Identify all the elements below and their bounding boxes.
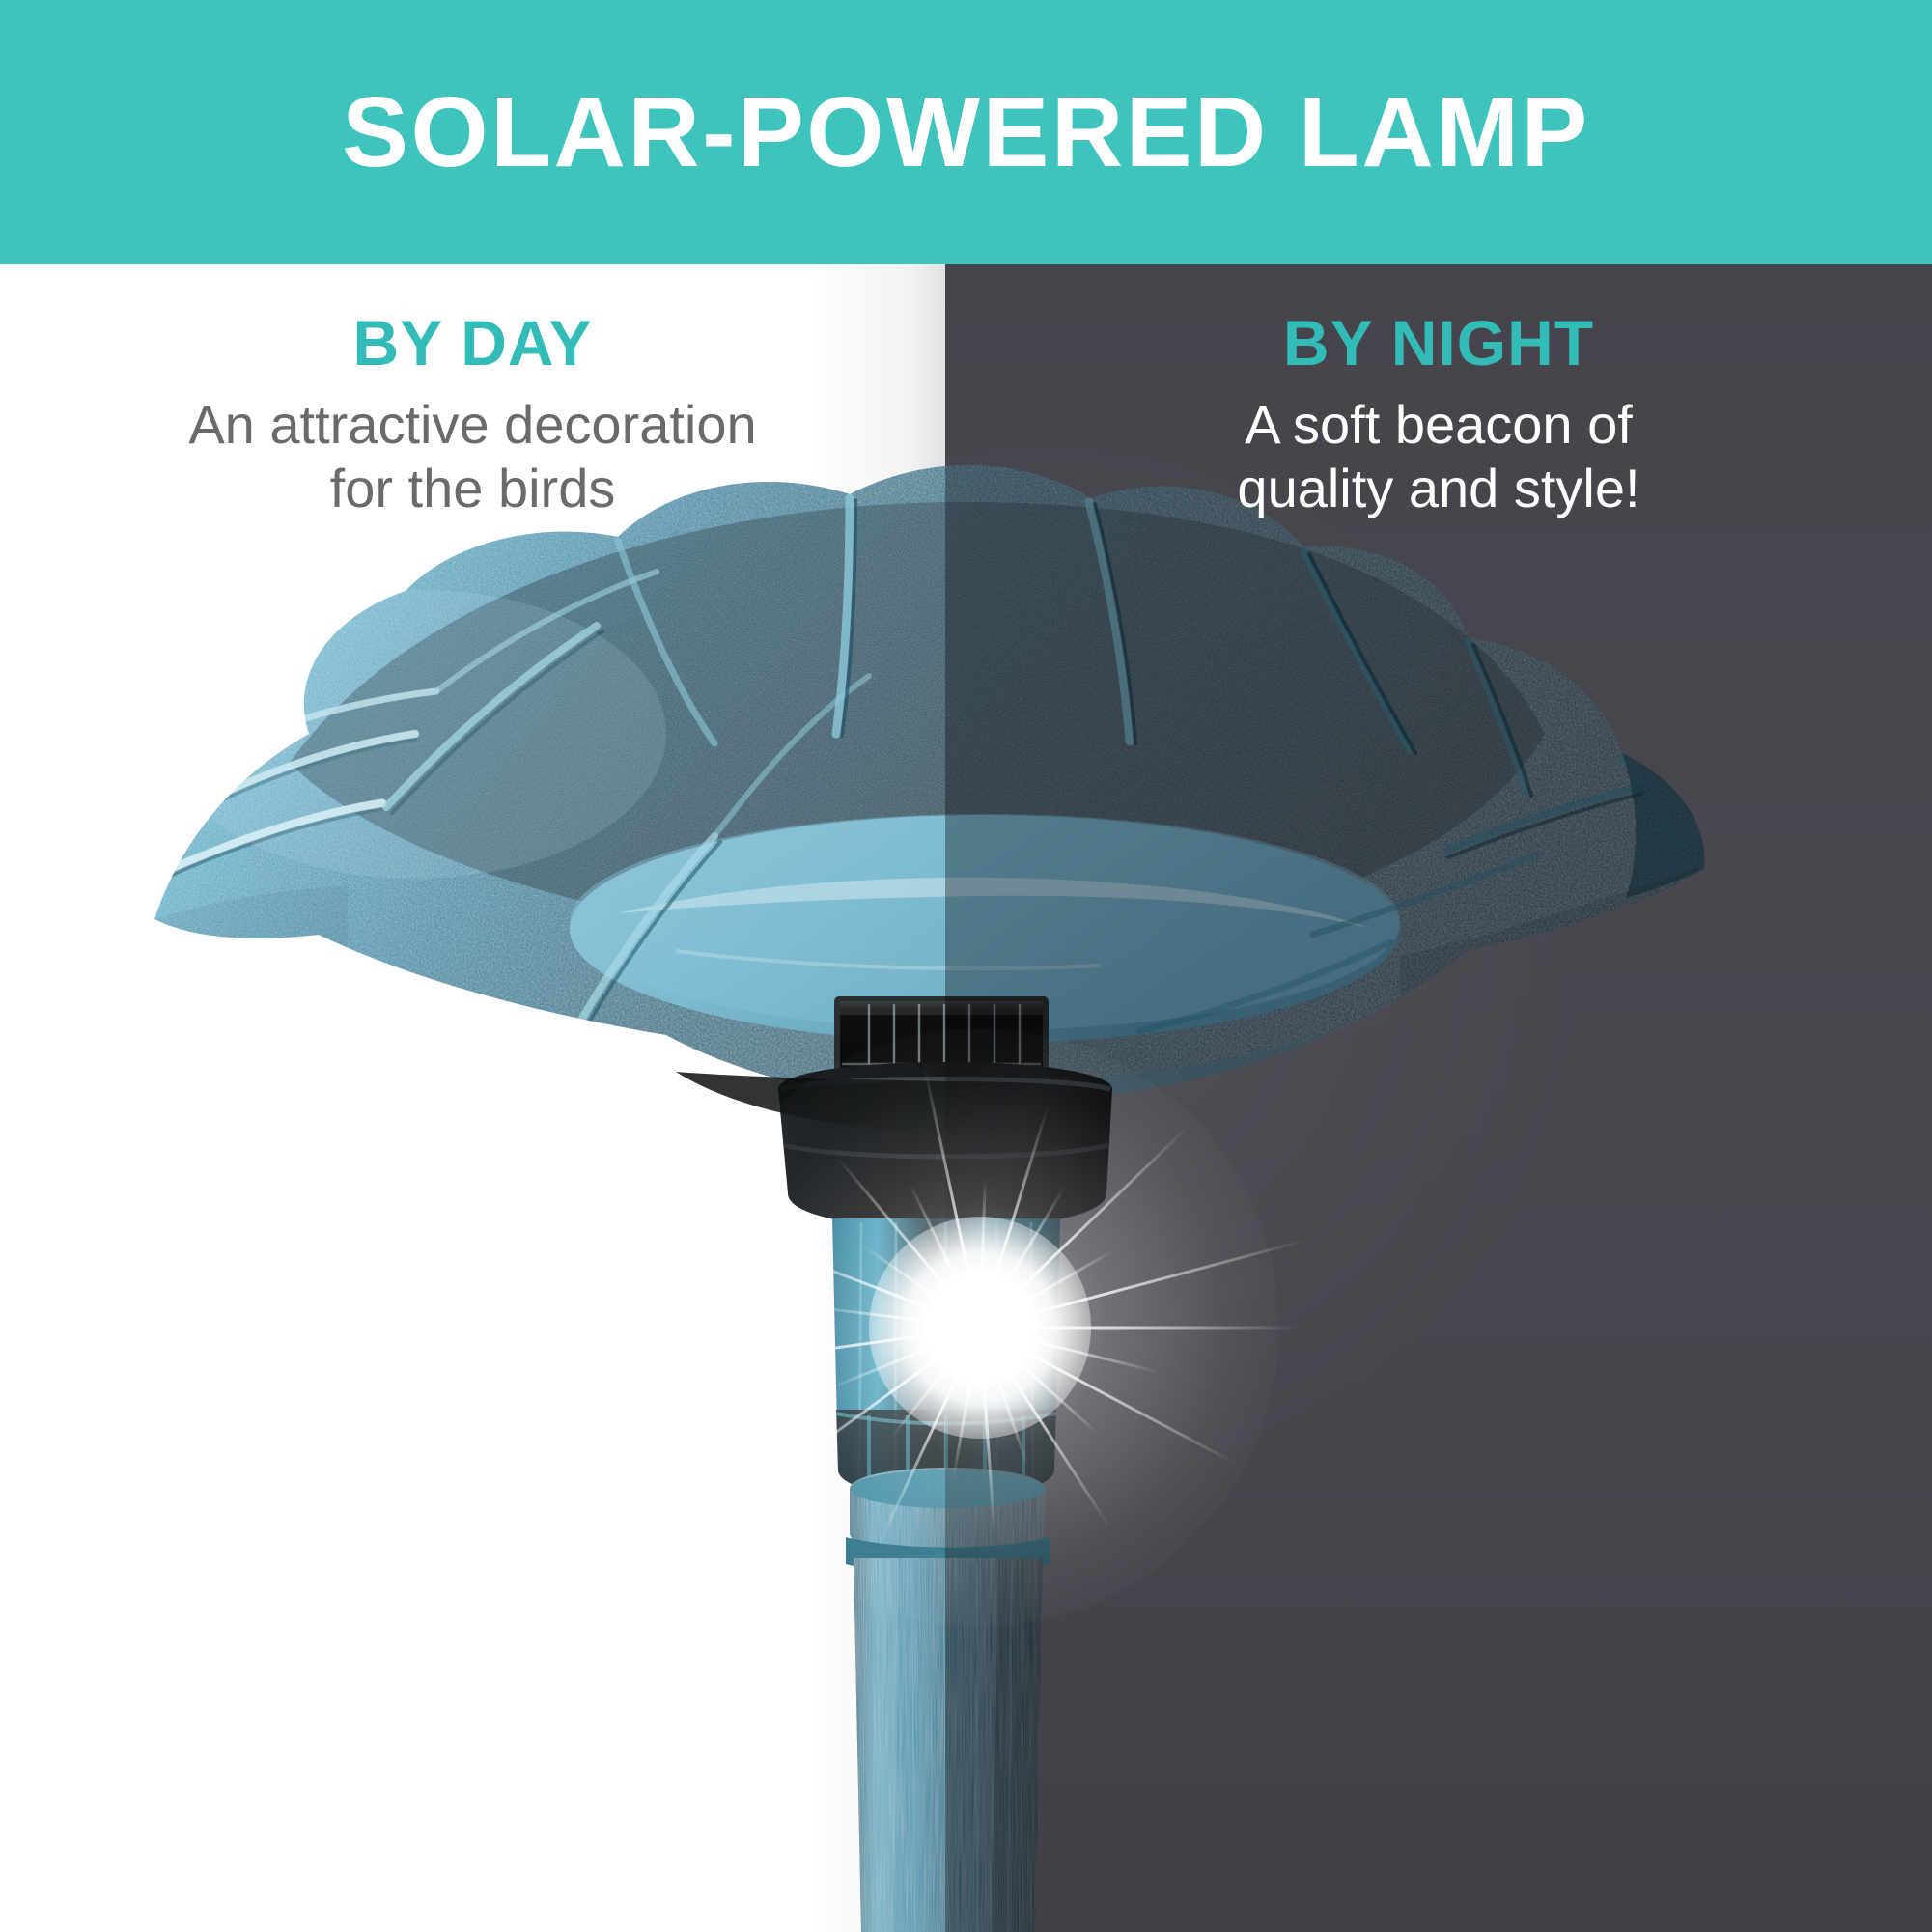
day-body-line1: An attractive decoration (0, 393, 945, 457)
day-caption-block: BY DAY An attractive decoration for the … (0, 309, 945, 519)
night-body-line2: quality and style! (945, 457, 1932, 520)
day-body-line2: for the birds (0, 457, 945, 520)
night-caption-block: BY NIGHT A soft beacon of quality and st… (945, 309, 1932, 519)
product-marketing-image: BY DAY An attractive decoration for the … (0, 0, 1932, 1932)
day-heading: BY DAY (0, 309, 945, 378)
night-body-line1: A soft beacon of (945, 393, 1932, 457)
night-heading: BY NIGHT (945, 309, 1932, 378)
header-banner: SOLAR-POWERED LAMP (0, 0, 1932, 264)
page-title: SOLAR-POWERED LAMP (342, 82, 1589, 182)
